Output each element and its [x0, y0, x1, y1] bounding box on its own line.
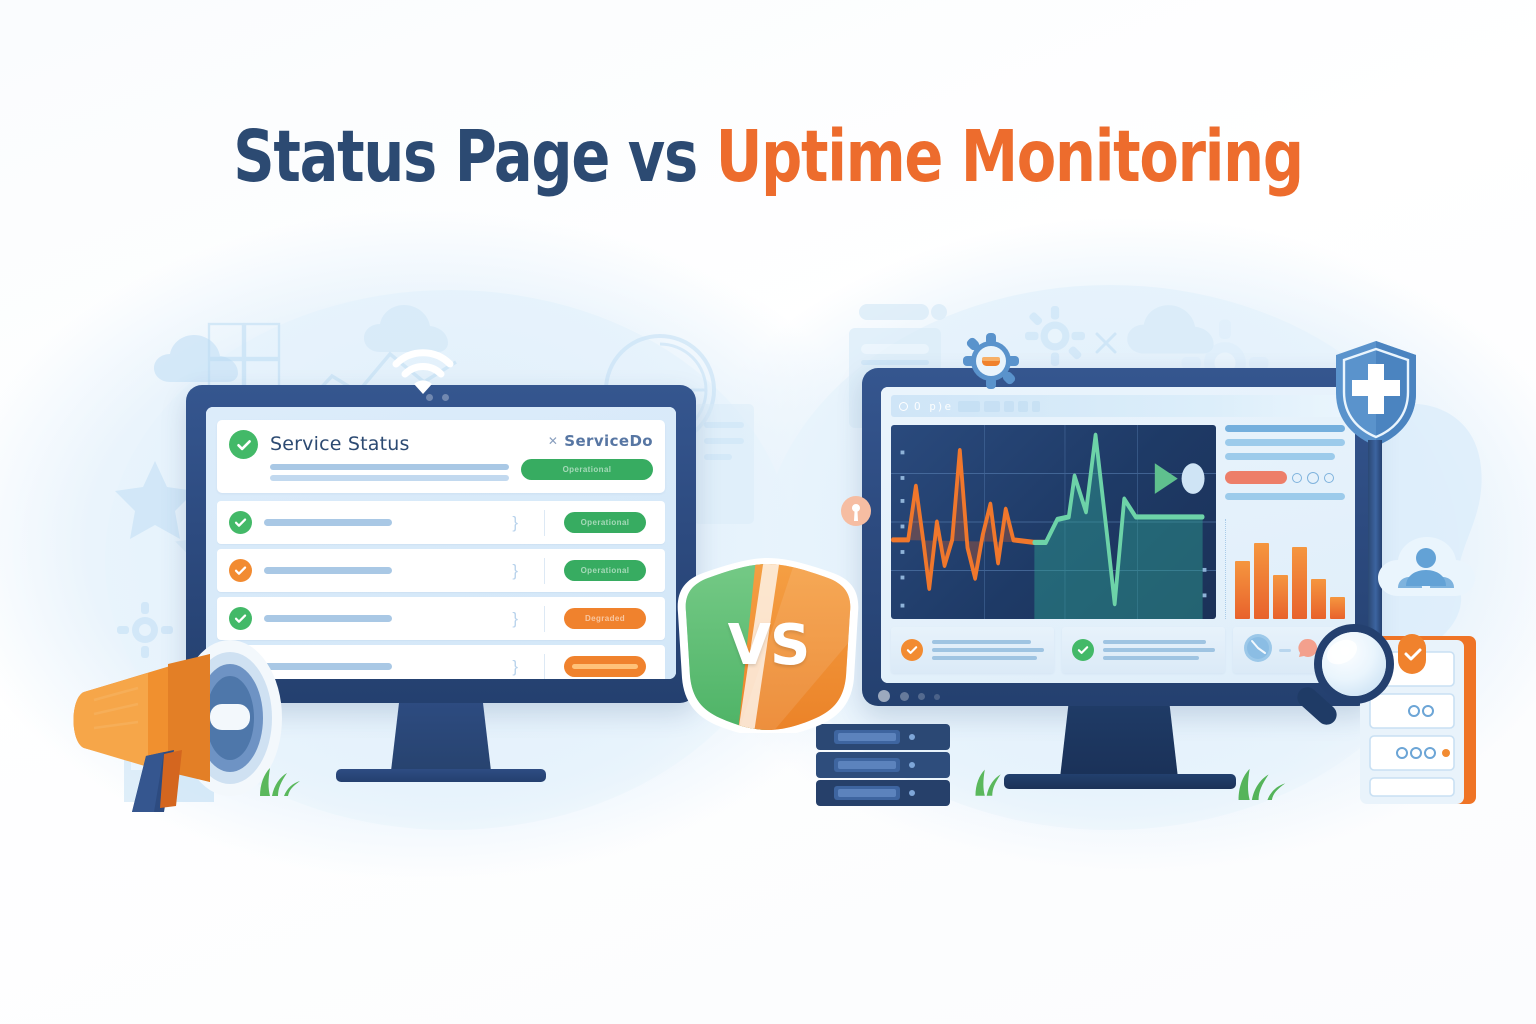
card-skeleton-lines [1103, 640, 1215, 660]
key-icon [840, 495, 872, 544]
row-meta-glyph: } [512, 562, 518, 579]
decor-cloud-right [1120, 300, 1260, 372]
check-circle-icon [229, 511, 252, 534]
row-divider [544, 510, 545, 536]
status-card[interactable] [1062, 627, 1225, 673]
skeleton-line [1103, 656, 1199, 660]
toolbar-block [1032, 401, 1040, 412]
sidebar-skeleton-line [1225, 439, 1345, 446]
status-page-header: Service Status ✕ ServiceDo Operational [217, 420, 665, 493]
header-skeleton-line [270, 475, 509, 481]
bar [1273, 575, 1288, 619]
bar [1292, 547, 1307, 619]
status-badge[interactable] [564, 656, 646, 677]
bar [1311, 579, 1326, 619]
toolbar-block-group [958, 401, 1040, 412]
magnifier-icon [1286, 614, 1410, 751]
check-circle-icon [229, 559, 252, 582]
row-meta: } [404, 658, 532, 675]
status-page-title: Service Status [270, 433, 509, 455]
skeleton-line [932, 656, 1037, 660]
x-icon: ✕ [548, 434, 558, 448]
sidebar-skeleton-line [1225, 493, 1345, 500]
status-page-brand-area: ✕ ServiceDo Operational [521, 430, 653, 480]
gauge-icon [1243, 633, 1273, 668]
circle-icon [1324, 473, 1334, 483]
illustration-canvas: Status Page vs Uptime Monitoring [0, 0, 1536, 1024]
vs-badge-label: VS [676, 558, 861, 733]
grass-left-icon [252, 760, 312, 801]
row-status-wrap: Operational [557, 560, 653, 581]
brand-label: ServiceDo [564, 432, 653, 450]
page-title-accent: Uptime Monitoring [716, 115, 1303, 198]
row-status-wrap: Operational [557, 512, 653, 533]
row-meta: } [404, 562, 532, 579]
left-monitor-base [336, 769, 546, 782]
circle-icon [899, 402, 908, 411]
skeleton-line [1103, 648, 1215, 652]
toolbar-block [1018, 401, 1028, 412]
monitoring-dashboard-app: O p)e [881, 387, 1355, 683]
server-stack-icon [812, 720, 960, 817]
decor-cross-right [1093, 330, 1119, 356]
right-monitor-base [1004, 774, 1236, 789]
settings-badge-icon [962, 332, 1020, 395]
check-circle-icon [229, 430, 258, 459]
service-name-skeleton [264, 519, 392, 526]
sidebar-bar-chart[interactable] [1225, 519, 1345, 619]
sidebar-skeleton-line [1225, 453, 1335, 460]
skeleton-line [932, 648, 1044, 652]
right-monitor-screen: O p)e [881, 387, 1355, 683]
row-status-wrap [557, 656, 653, 677]
wifi-icon [388, 340, 458, 403]
decor-gear-right [1024, 305, 1086, 367]
right-monitor-led-3 [934, 694, 940, 700]
right-monitor-neck [1060, 706, 1178, 778]
bar [1235, 561, 1250, 619]
grass-right-icon-2 [1228, 760, 1298, 805]
dashboard-toolbar-label: O p)e [914, 400, 952, 413]
right-monitor-led-2 [918, 693, 925, 700]
toolbar-block [984, 401, 1000, 412]
table-row[interactable]: } Operational [217, 501, 665, 544]
check-circle-icon [1072, 639, 1094, 661]
check-circle-icon [901, 639, 923, 661]
row-meta-glyph: } [512, 610, 518, 627]
skeleton-line [932, 640, 1031, 644]
dashboard-sidebar [1225, 425, 1345, 619]
status-badge[interactable]: Operational [521, 459, 653, 480]
grass-right-icon [968, 762, 1024, 801]
row-meta: } [404, 610, 532, 627]
status-card[interactable] [891, 627, 1054, 673]
row-meta-glyph: } [512, 514, 518, 531]
header-skeleton-line [270, 464, 509, 470]
row-status-wrap: Degraded [557, 608, 653, 629]
dashboard-body [891, 425, 1345, 619]
brand-logo: ✕ ServiceDo [548, 432, 653, 450]
row-meta: } [404, 514, 532, 531]
dashboard-card-row [891, 627, 1345, 673]
page-title-primary: Status Page vs [233, 115, 715, 198]
sidebar-skeleton-line [1225, 425, 1345, 432]
circle-icon [1292, 473, 1302, 483]
alert-badge[interactable] [1225, 471, 1287, 484]
service-name-skeleton [264, 567, 392, 574]
row-divider [544, 558, 545, 584]
check-circle-icon [229, 607, 252, 630]
sidebar-alert-row [1225, 471, 1345, 484]
toolbar-block [958, 401, 980, 412]
status-page-header-main: Service Status [270, 430, 509, 481]
row-divider [544, 606, 545, 632]
row-meta-glyph: } [512, 658, 518, 675]
bar [1254, 543, 1269, 619]
response-time-chart[interactable] [891, 425, 1216, 619]
circle-icon [1307, 472, 1319, 484]
service-name-skeleton [264, 615, 392, 622]
skeleton-line [1103, 640, 1206, 644]
table-row[interactable]: } Operational [217, 549, 665, 592]
toolbar-block [1004, 401, 1014, 412]
dashboard-toolbar: O p)e [891, 395, 1345, 417]
card-skeleton-lines [932, 640, 1044, 660]
status-badge[interactable]: Operational [564, 560, 646, 581]
page-title: Status Page vs Uptime Monitoring [0, 120, 1536, 195]
left-monitor-neck [391, 703, 491, 771]
right-monitor-camera [878, 690, 890, 702]
user-cloud-badge-icon [1374, 530, 1478, 613]
row-divider [544, 654, 545, 680]
vs-badge: VS [676, 558, 861, 733]
right-monitor-led-1 [900, 692, 909, 701]
decor-doc-left [690, 400, 760, 530]
status-badge[interactable]: Operational [564, 512, 646, 533]
status-badge[interactable]: Degraded [564, 608, 646, 629]
shield-cross-icon [1330, 338, 1422, 455]
